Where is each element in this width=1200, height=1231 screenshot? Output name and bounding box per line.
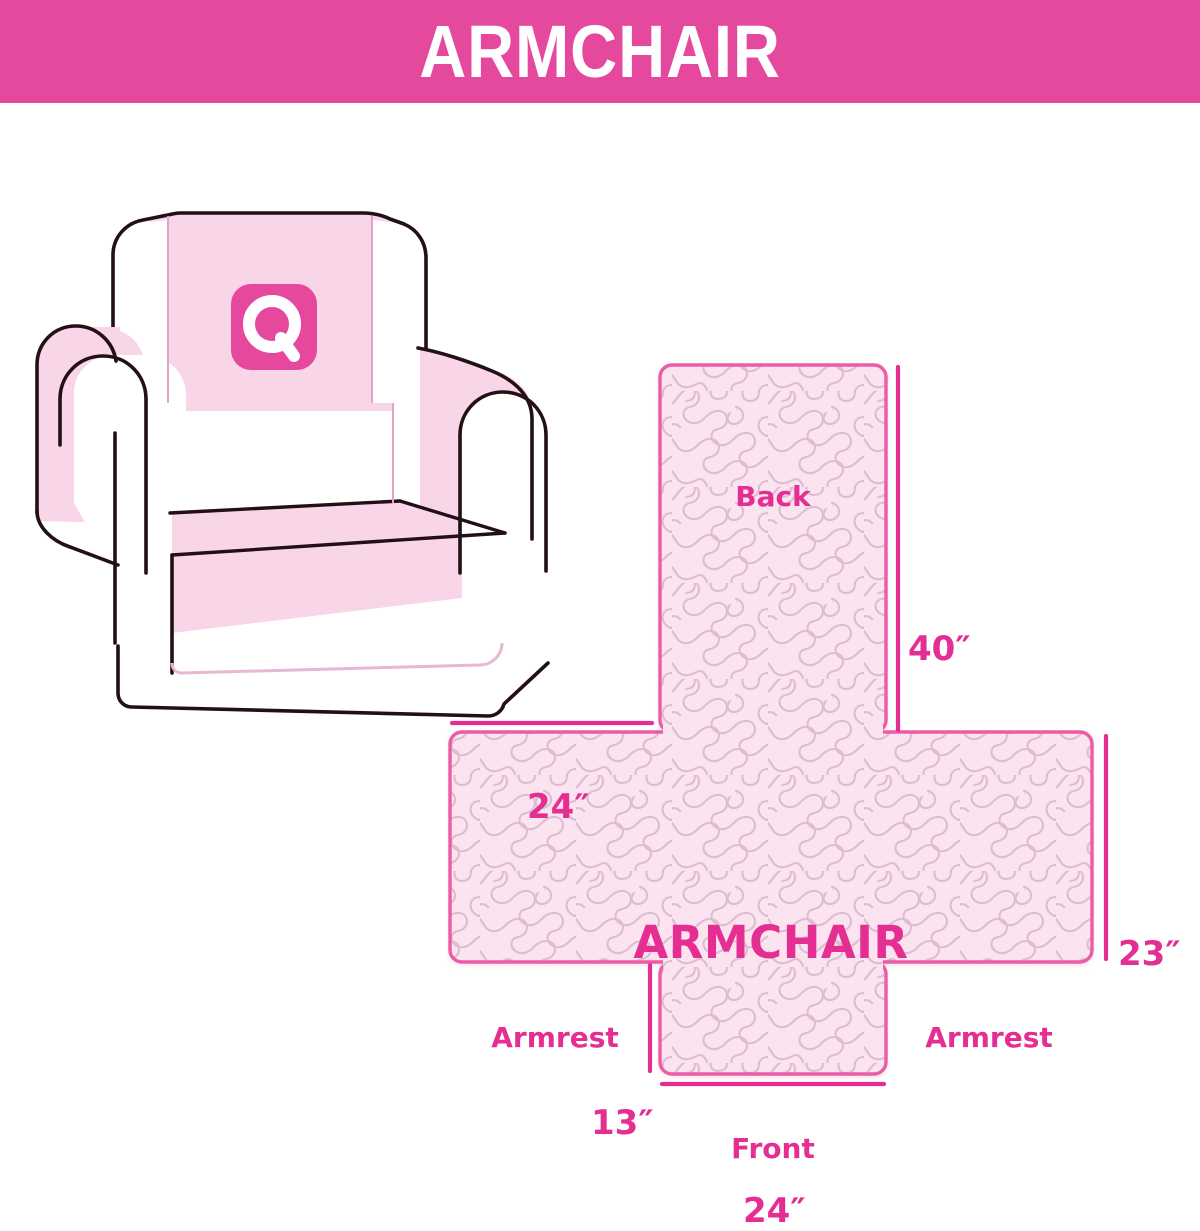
armchair-illustration — [36, 213, 548, 716]
armchair-dimension-illustration — [0, 103, 1200, 1200]
panel-back — [660, 365, 886, 732]
page-title: ARMCHAIR — [72, 0, 1128, 103]
panel-front — [660, 962, 886, 1074]
panel-armrest-row — [450, 732, 1092, 962]
brand-logo-badge — [231, 284, 317, 370]
header-banner: ARMCHAIR — [0, 0, 1200, 103]
diagram-canvas: Back ARMCHAIR Armrest Armrest Front 40″ … — [0, 103, 1200, 1200]
